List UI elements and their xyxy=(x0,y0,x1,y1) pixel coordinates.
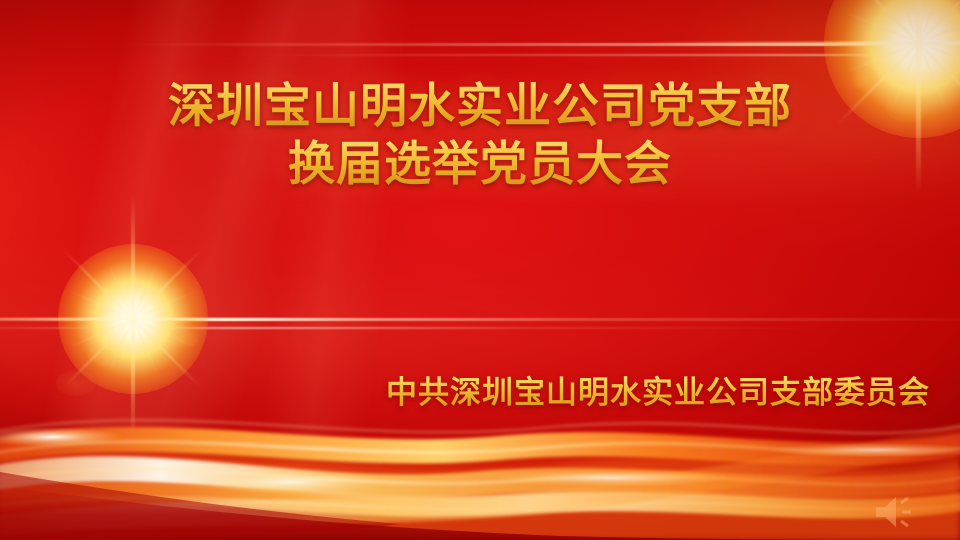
light-streak-left-secondary xyxy=(0,327,840,329)
light-streak-left xyxy=(0,318,960,321)
flare-ray xyxy=(0,317,368,320)
flare-ray xyxy=(639,41,960,45)
title-block: 深圳宝山明水实业公司党支部 换届选举党员大会 xyxy=(0,78,960,192)
speaker-icon[interactable] xyxy=(872,492,920,532)
flare-ray xyxy=(68,289,197,348)
flare-core-secondary xyxy=(58,244,208,394)
flare-ray xyxy=(842,11,960,75)
flare-ray xyxy=(106,261,158,376)
flare-ray xyxy=(106,261,158,376)
flare-ray xyxy=(63,249,203,389)
presentation-slide: 深圳宝山明水实业公司党支部 换届选举党员大会 中共深圳宝山明水实业公司支部委员会 xyxy=(0,0,960,540)
flare-ghost-orb xyxy=(88,344,122,366)
light-streak-top-secondary xyxy=(260,54,960,56)
flare-ray xyxy=(63,249,203,389)
light-streak-top xyxy=(120,43,960,46)
flare-ray xyxy=(842,11,960,75)
lens-flare-starburst-icon xyxy=(918,42,919,43)
slide-subtitle-organization: 中共深圳宝山明水实业公司支部委员会 xyxy=(386,373,930,413)
slide-title-line-2: 换届选举党员大会 xyxy=(0,136,960,192)
slide-title-line-1: 深圳宝山明水实业公司党支部 xyxy=(0,78,960,134)
flare-ghost-orb xyxy=(168,330,198,348)
lens-flare-secondary-icon xyxy=(132,318,133,319)
flare-ray xyxy=(68,289,197,348)
